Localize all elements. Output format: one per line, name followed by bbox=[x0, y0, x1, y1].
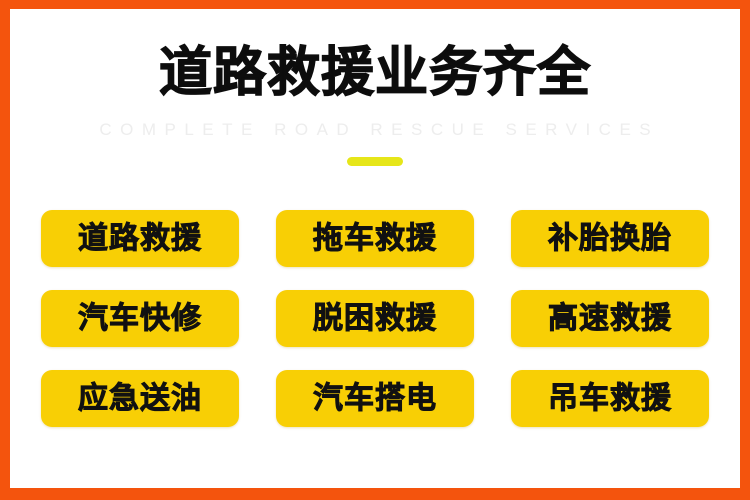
service-button-quick-car-repair[interactable]: 汽车快修 bbox=[41, 290, 239, 347]
page-subtitle: COMPLETE ROAD RESCUE SERVICES bbox=[10, 119, 740, 141]
accent-underline bbox=[347, 157, 403, 166]
service-button-label: 应急送油 bbox=[78, 382, 202, 416]
page-title: 道路救援业务齐全 bbox=[10, 43, 740, 103]
poster-canvas: 道路救援业务齐全 COMPLETE ROAD RESCUE SERVICES 道… bbox=[10, 9, 740, 488]
service-button-crane-rescue[interactable]: 吊车救援 bbox=[511, 370, 709, 427]
service-button-label: 汽车快修 bbox=[78, 302, 202, 336]
service-button-tow-rescue[interactable]: 拖车救援 bbox=[276, 210, 474, 267]
service-button-extrication-rescue[interactable]: 脱困救援 bbox=[276, 290, 474, 347]
service-button-emergency-fuel-delivery[interactable]: 应急送油 bbox=[41, 370, 239, 427]
poster-root: 道路救援业务齐全 COMPLETE ROAD RESCUE SERVICES 道… bbox=[0, 0, 750, 500]
service-button-label: 脱困救援 bbox=[313, 302, 437, 336]
service-button-label: 拖车救援 bbox=[313, 222, 437, 256]
service-button-highway-rescue[interactable]: 高速救援 bbox=[511, 290, 709, 347]
service-button-label: 高速救援 bbox=[548, 302, 672, 336]
service-button-label: 道路救援 bbox=[78, 222, 202, 256]
service-button-jump-start[interactable]: 汽车搭电 bbox=[276, 370, 474, 427]
service-button-tire-repair-replace[interactable]: 补胎换胎 bbox=[511, 210, 709, 267]
service-button-road-rescue[interactable]: 道路救援 bbox=[41, 210, 239, 267]
service-button-label: 吊车救援 bbox=[548, 382, 672, 416]
header-section: 道路救援业务齐全 COMPLETE ROAD RESCUE SERVICES bbox=[10, 9, 740, 199]
service-grid: 道路救援 拖车救援 补胎换胎 汽车快修 脱困救援 高速救援 应急送油 汽车搭电 bbox=[41, 210, 710, 427]
service-button-label: 补胎换胎 bbox=[548, 222, 672, 256]
service-button-label: 汽车搭电 bbox=[313, 382, 437, 416]
